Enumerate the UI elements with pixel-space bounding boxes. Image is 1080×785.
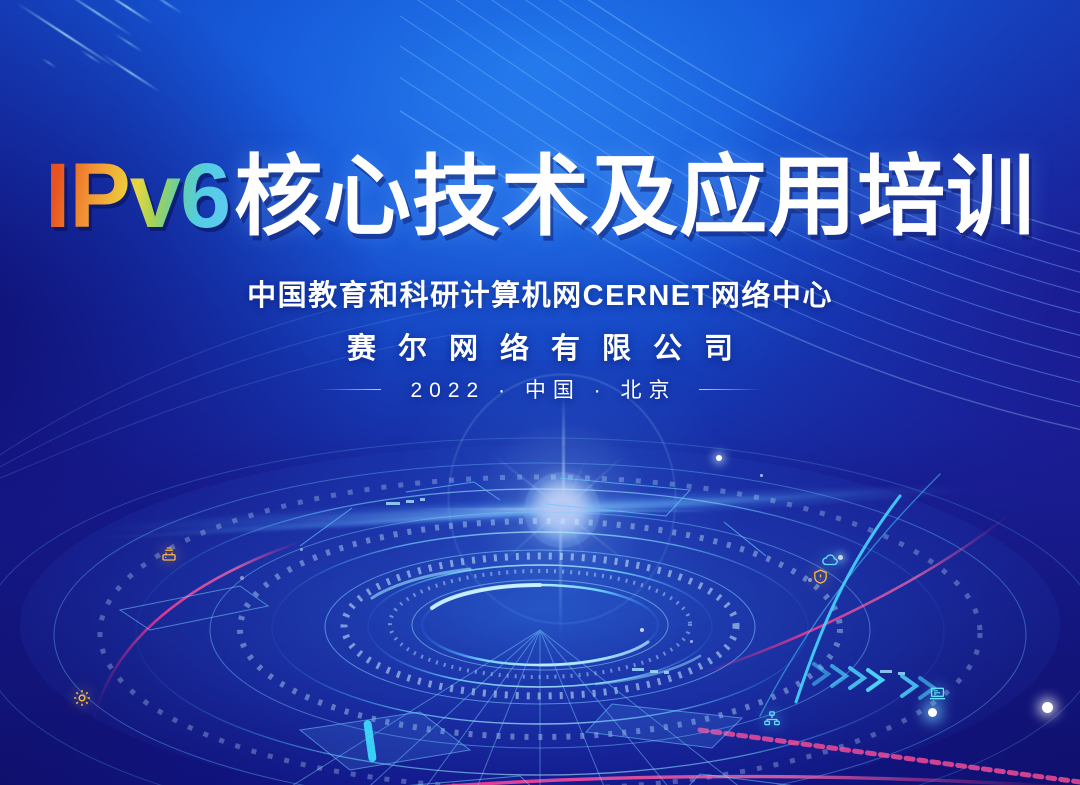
poster-text-content: IPv6 核心技术及应用培训 中国教育和科研计算机网CERNET网络中心 赛尔网… (0, 0, 1080, 785)
event-meta-row: 2022 · 中国 · 北京 (0, 374, 1080, 404)
divider-line-left (319, 389, 381, 390)
title-highlight-ipv6: IPv6 (45, 144, 234, 249)
subtitle-organization: 中国教育和科研计算机网CERNET网络中心 (0, 272, 1080, 314)
title-main-chinese: 核心技术及应用培训 (234, 126, 1035, 253)
poster-canvas: IPv6 核心技术及应用培训 中国教育和科研计算机网CERNET网络中心 赛尔网… (0, 0, 1080, 785)
event-year-location: 2022 · 中国 · 北京 (403, 374, 676, 404)
divider-line-right (699, 389, 761, 390)
subtitle-company: 赛尔网络有限公司 (0, 325, 1080, 367)
page-title: IPv6 核心技术及应用培训 (0, 126, 1080, 253)
